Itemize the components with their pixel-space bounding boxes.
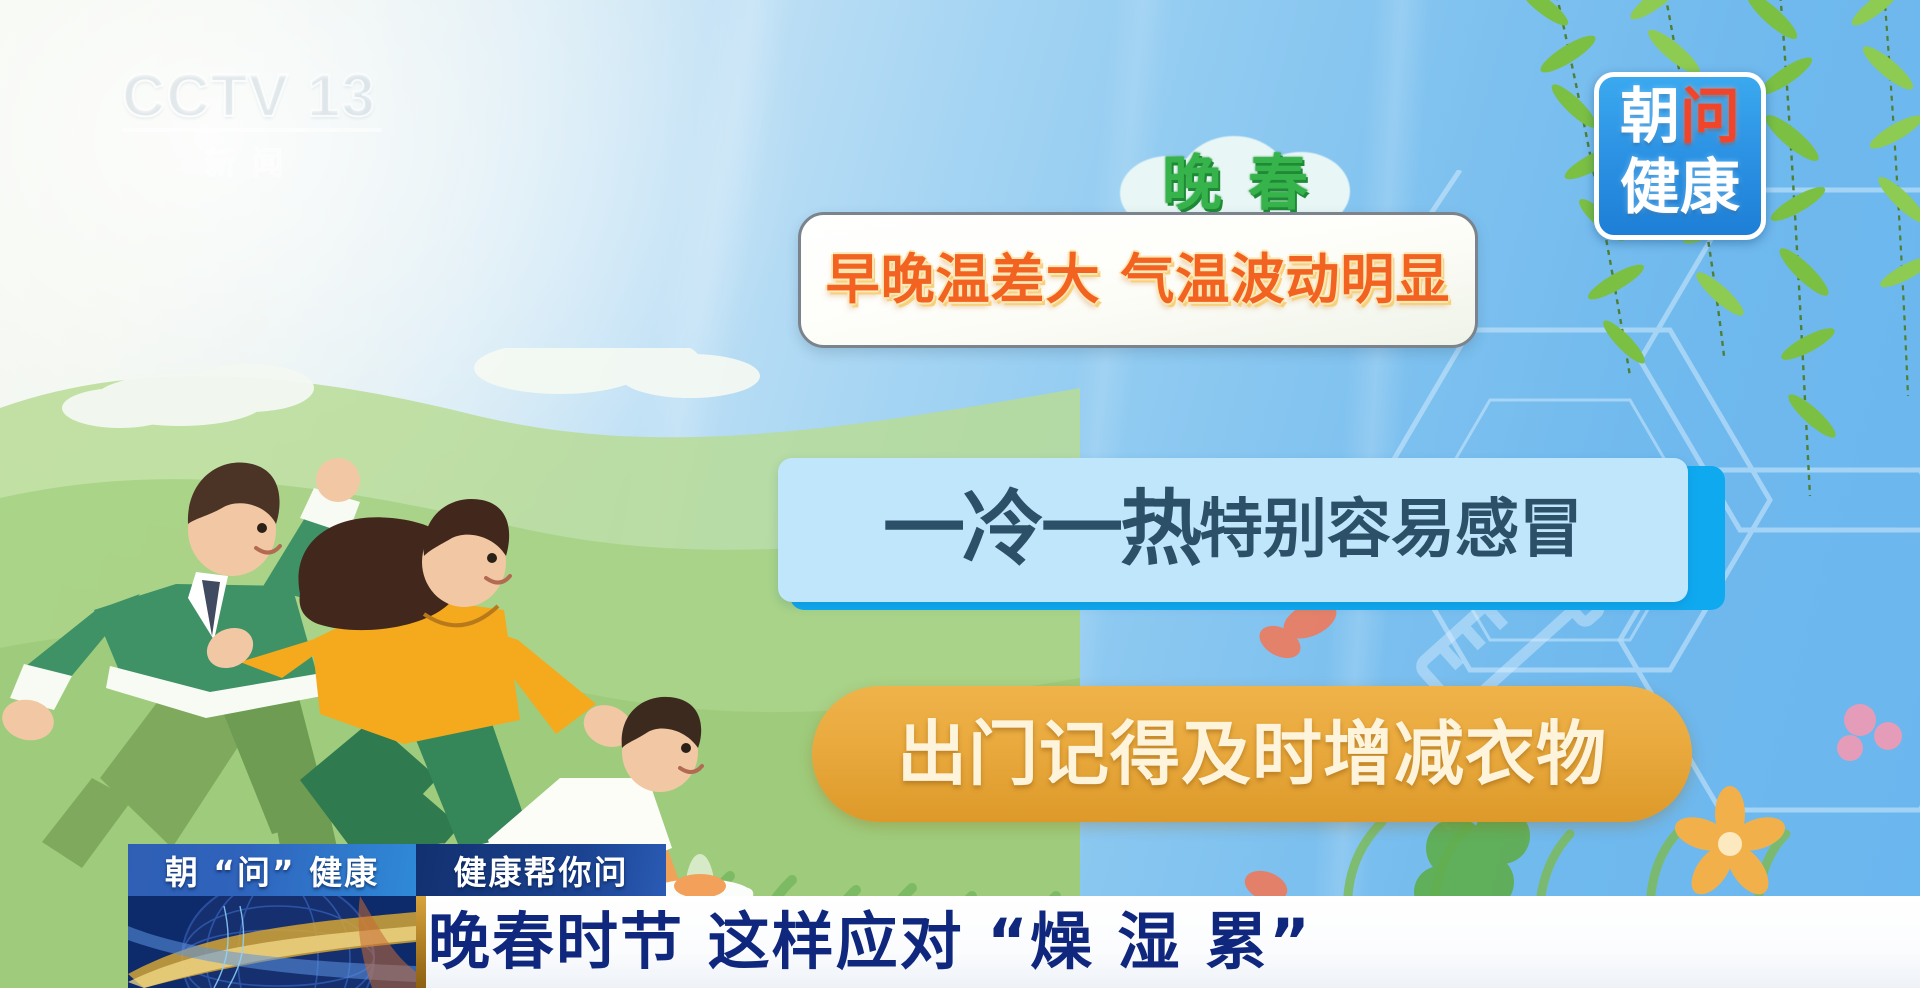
lower-third-tab-program[interactable]: 朝 “问” 健康: [128, 844, 416, 896]
badge-char-jian: 健: [1620, 158, 1680, 218]
badge-row-bottom: 健 康: [1599, 148, 1761, 227]
banner-temperature-variance: 早晚温差大 气温波动明显: [798, 212, 1478, 348]
lower-third-tabs: 朝 “问” 健康 健康帮你问: [128, 844, 666, 896]
banner-blue-text-emphasis: 一冷一热: [883, 489, 1199, 571]
season-char-2: 春: [1248, 154, 1308, 214]
lower-third-tab-segment[interactable]: 健康帮你问: [416, 844, 666, 896]
lower-third-headline-text: 晚春时节 这样应对 “燥 湿 累”: [428, 911, 1312, 973]
program-logo-badge: 朝 问 健 康: [1594, 72, 1766, 240]
badge-char-wen: 问: [1680, 87, 1740, 147]
banner-orange-text: 出门记得及时增减衣物: [897, 719, 1607, 789]
orange-flower: [1671, 786, 1790, 901]
lower-third-globe-graphic: [128, 896, 416, 988]
lower-third-gold-cap: [416, 896, 426, 988]
banner-white-text: 早晚温差大 气温波动明显: [826, 253, 1451, 307]
banner-blue-text-rest: 特别容易感冒: [1199, 498, 1583, 562]
lower-third-tab2-label: 健康帮你问: [454, 846, 629, 894]
banner-cold-heat-cold: 一冷一热 特别容易感冒: [778, 458, 1688, 602]
broadcast-frame: CCTV 13 新闻 朝 问 健 康 晚 春 早晚温差大 气温波动明显: [0, 0, 1920, 988]
season-char-1: 晚: [1162, 154, 1222, 214]
badge-row-top: 朝 问: [1599, 77, 1761, 156]
badge-char-kang: 康: [1680, 158, 1740, 218]
badge-char-chao: 朝: [1620, 87, 1680, 147]
banner-adjust-clothing: 出门记得及时增减衣物: [812, 686, 1692, 822]
lower-third-tab1-label: 朝 “问” 健康: [165, 846, 379, 894]
lower-third-headline-bar: 晚春时节 这样应对 “燥 湿 累”: [416, 896, 1920, 988]
